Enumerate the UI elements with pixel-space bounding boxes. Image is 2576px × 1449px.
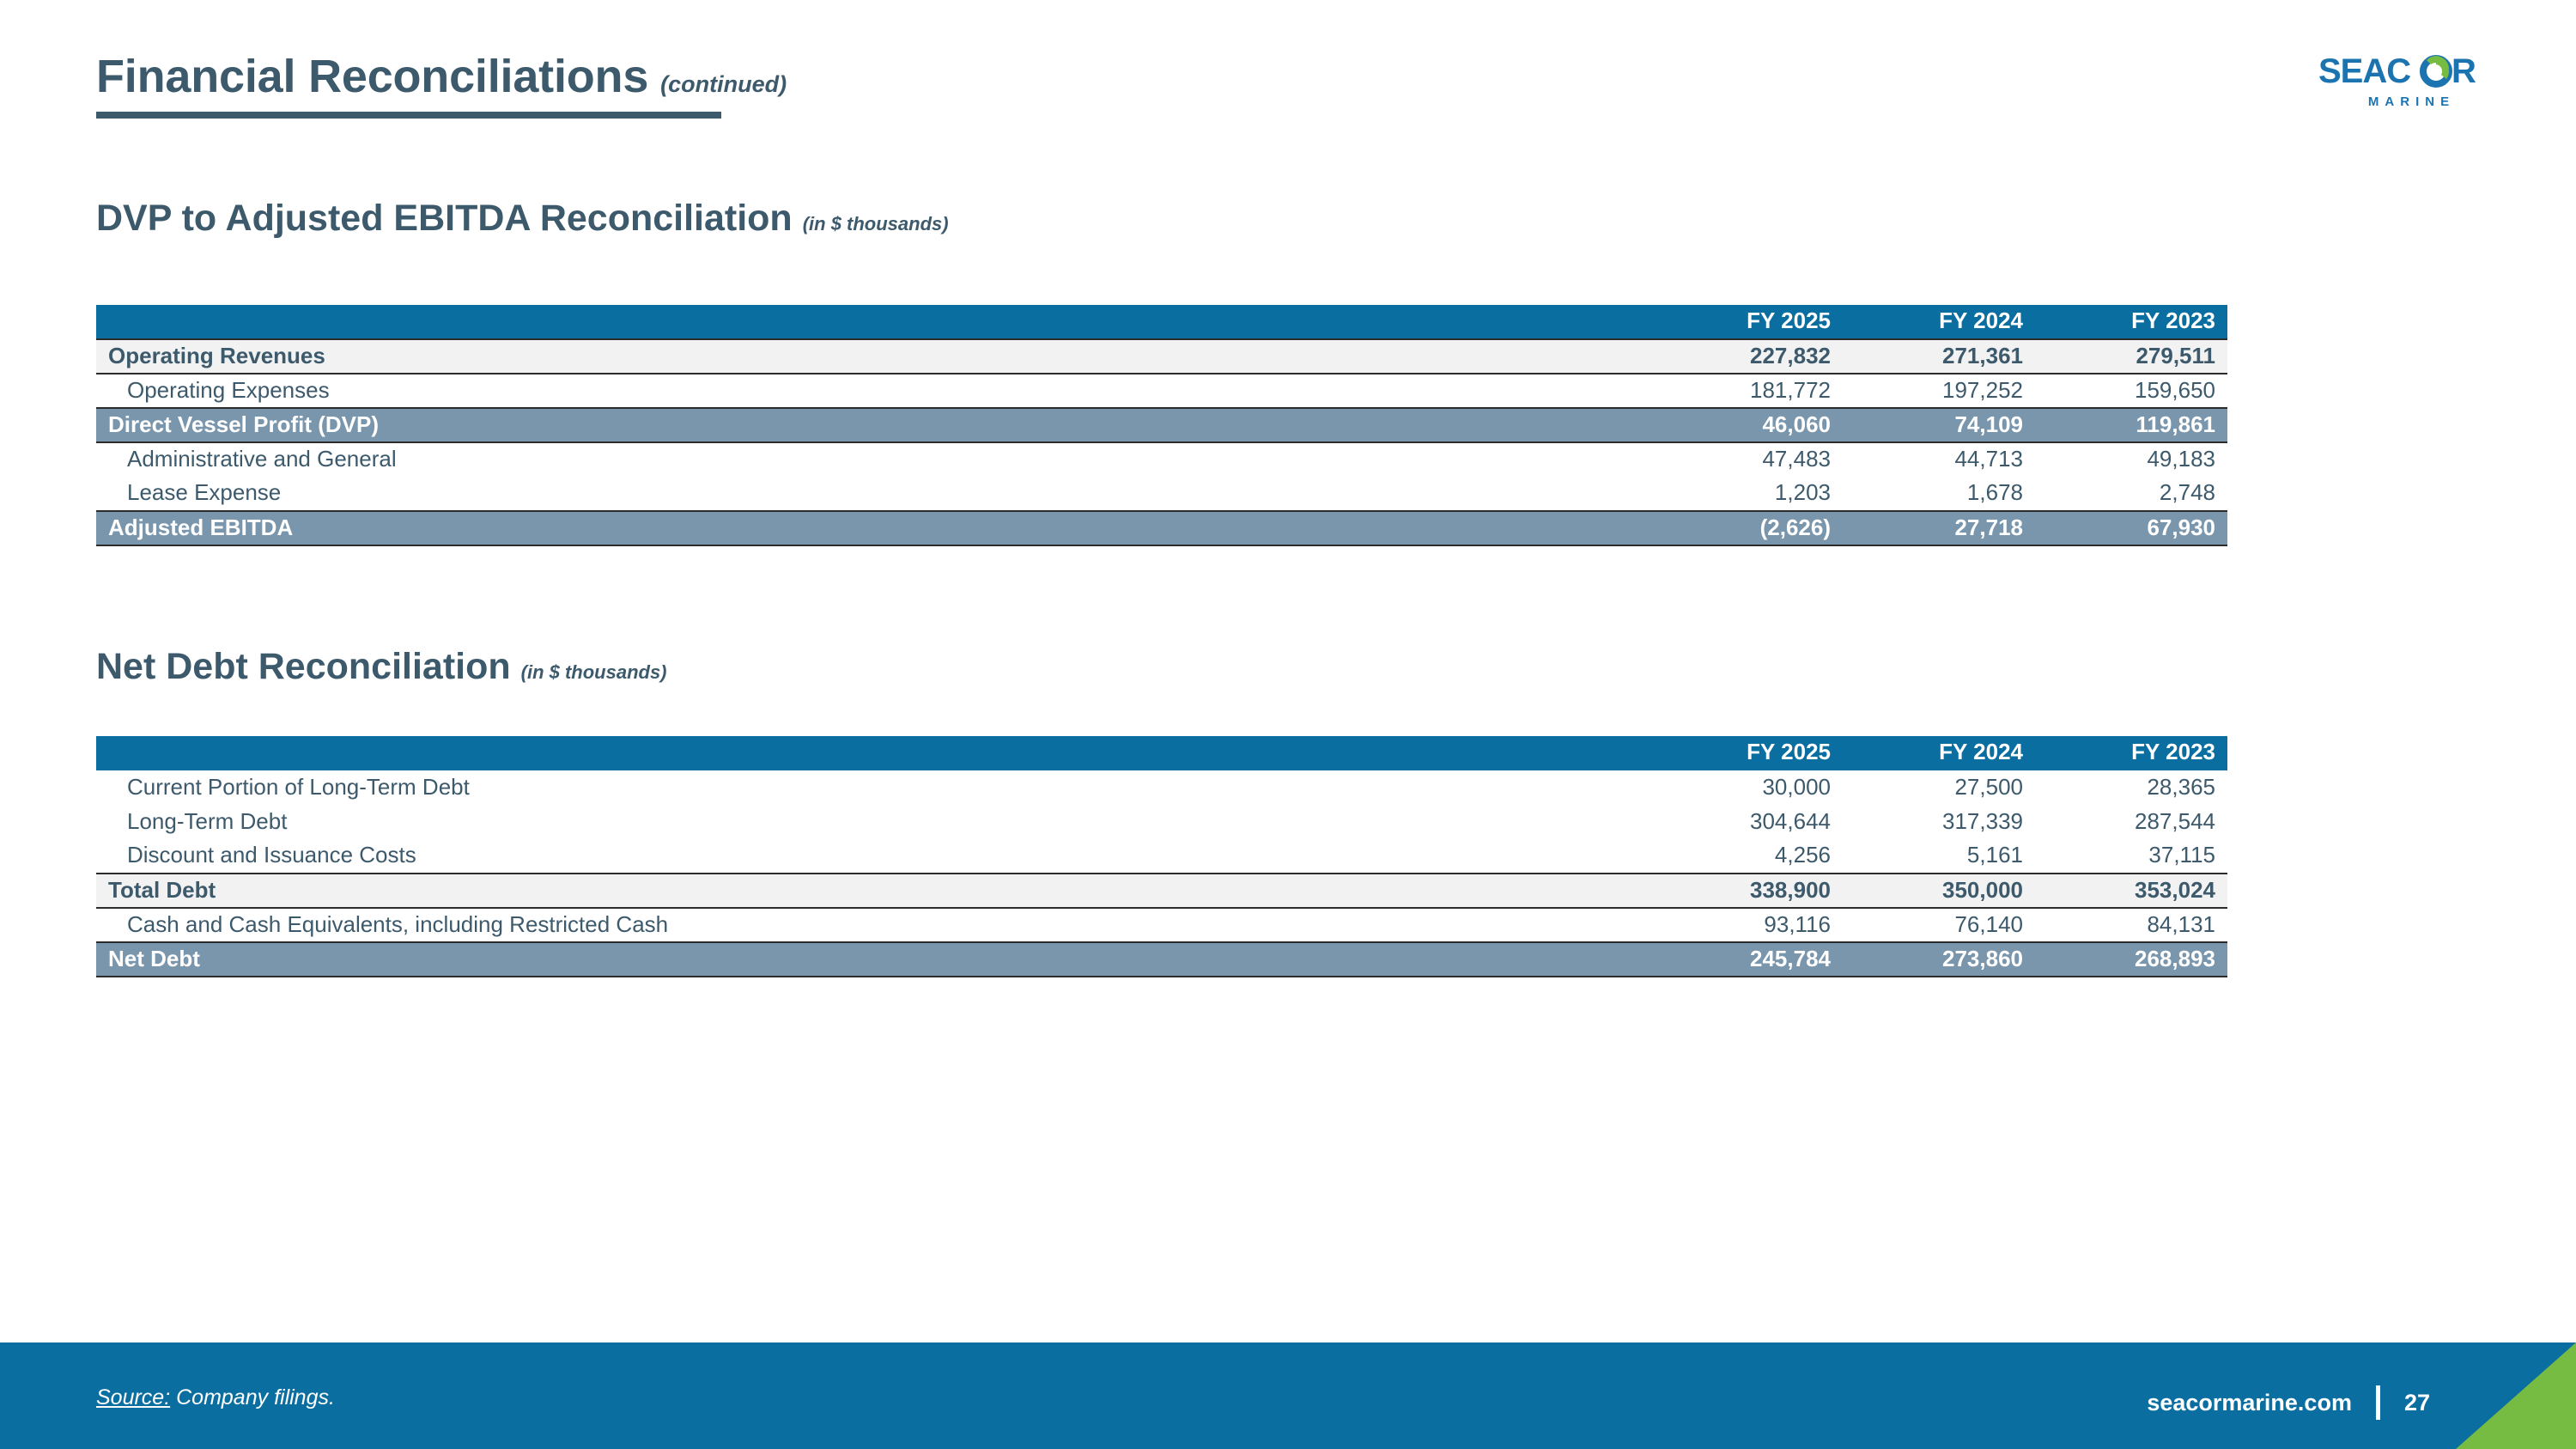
row-label: Adjusted EBITDA (96, 511, 1650, 545)
row-value-fy2025: 46,060 (1650, 408, 1843, 442)
row-label: Operating Revenues (96, 339, 1650, 374)
row-value-fy2025: 93,116 (1650, 908, 1843, 942)
row-label: Operating Expenses (96, 374, 1650, 408)
row-value-fy2024: 27,718 (1843, 511, 2035, 545)
row-value-fy2025: 338,900 (1650, 874, 1843, 908)
row-value-fy2023: 353,024 (2035, 874, 2227, 908)
row-value-fy2025: 227,832 (1650, 339, 1843, 374)
svg-text:R: R (2451, 53, 2476, 90)
logo-subtitle: MARINE (2318, 94, 2499, 109)
table-row: Net Debt 245,784 273,860 268,893 (96, 942, 2227, 977)
row-value-fy2024: 44,713 (1843, 442, 2035, 477)
row-label: Lease Expense (96, 477, 1650, 511)
section-title-net-debt: Net Debt Reconciliation (in $ thousands) (96, 646, 667, 688)
footer-divider (2376, 1385, 2380, 1420)
slide-footer: Source: Company filings. seacormarine.co… (0, 1342, 2576, 1449)
row-label: Discount and Issuance Costs (96, 839, 1650, 874)
row-value-fy2023: 84,131 (2035, 908, 2227, 942)
column-header-fy2024: FY 2024 (1843, 736, 2035, 770)
row-value-fy2023: 49,183 (2035, 442, 2227, 477)
table-row: Direct Vessel Profit (DVP) 46,060 74,109… (96, 408, 2227, 442)
table-row: Administrative and General 47,483 44,713… (96, 442, 2227, 477)
row-label: Cash and Cash Equivalents, including Res… (96, 908, 1650, 942)
row-value-fy2025: 47,483 (1650, 442, 1843, 477)
table-header-row: FY 2025 FY 2024 FY 2023 (96, 736, 2227, 770)
footer-website-url[interactable]: seacormarine.com (2147, 1390, 2352, 1416)
row-value-fy2023: 37,115 (2035, 839, 2227, 874)
row-value-fy2024: 27,500 (1843, 770, 2035, 805)
logo-wordmark-icon: SEAC R (2318, 53, 2499, 91)
page-title-text: Financial Reconciliations (96, 50, 648, 103)
column-header-fy2024: FY 2024 (1843, 305, 2035, 339)
section-title-net-debt-text: Net Debt Reconciliation (96, 646, 511, 688)
table-row: Operating Revenues 227,832 271,361 279,5… (96, 339, 2227, 374)
row-label: Administrative and General (96, 442, 1650, 477)
footer-green-accent-triangle (2456, 1342, 2576, 1449)
row-value-fy2023: 28,365 (2035, 770, 2227, 805)
column-header-fy2023: FY 2023 (2035, 736, 2227, 770)
row-label: Net Debt (96, 942, 1650, 977)
column-header-label (96, 305, 1650, 339)
row-value-fy2024: 1,678 (1843, 477, 2035, 511)
page-number: 27 (2404, 1390, 2430, 1416)
column-header-fy2025: FY 2025 (1650, 736, 1843, 770)
table-row: Long-Term Debt 304,644 317,339 287,544 (96, 805, 2227, 839)
footer-source-label: Source: (96, 1385, 170, 1409)
row-value-fy2023: 279,511 (2035, 339, 2227, 374)
row-value-fy2024: 317,339 (1843, 805, 2035, 839)
row-value-fy2025: 304,644 (1650, 805, 1843, 839)
row-value-fy2023: 119,861 (2035, 408, 2227, 442)
row-value-fy2024: 273,860 (1843, 942, 2035, 977)
page-title: Financial Reconciliations (continued) (96, 50, 787, 103)
row-value-fy2025: 4,256 (1650, 839, 1843, 874)
footer-source-note: Source: Company filings. (96, 1385, 335, 1410)
footer-right-group: seacormarine.com 27 (2147, 1385, 2430, 1420)
title-underline-rule (96, 112, 721, 119)
table-header-row: FY 2025 FY 2024 FY 2023 (96, 305, 2227, 339)
row-label: Long-Term Debt (96, 805, 1650, 839)
row-value-fy2023: 2,748 (2035, 477, 2227, 511)
row-value-fy2025: 1,203 (1650, 477, 1843, 511)
row-value-fy2024: 76,140 (1843, 908, 2035, 942)
dvp-ebitda-table: FY 2025 FY 2024 FY 2023 Operating Revenu… (96, 305, 2227, 546)
row-label: Total Debt (96, 874, 1650, 908)
row-value-fy2024: 271,361 (1843, 339, 2035, 374)
section-title-dvp-text: DVP to Adjusted EBITDA Reconciliation (96, 198, 793, 240)
footer-source-text: Company filings. (176, 1385, 335, 1409)
table-row: Current Portion of Long-Term Debt 30,000… (96, 770, 2227, 805)
row-value-fy2024: 350,000 (1843, 874, 2035, 908)
table-row: Cash and Cash Equivalents, including Res… (96, 908, 2227, 942)
row-value-fy2023: 67,930 (2035, 511, 2227, 545)
column-header-label (96, 736, 1650, 770)
section-title-dvp: DVP to Adjusted EBITDA Reconciliation (i… (96, 198, 949, 240)
svg-text:SEAC: SEAC (2318, 53, 2410, 90)
table-row: Adjusted EBITDA (2,626) 27,718 67,930 (96, 511, 2227, 545)
seacor-marine-logo: SEAC R MARINE (2318, 53, 2499, 109)
row-value-fy2025: 181,772 (1650, 374, 1843, 408)
page-title-suffix: (continued) (660, 71, 787, 98)
table-row: Total Debt 338,900 350,000 353,024 (96, 874, 2227, 908)
row-value-fy2024: 197,252 (1843, 374, 2035, 408)
net-debt-table: FY 2025 FY 2024 FY 2023 Current Portion … (96, 736, 2227, 977)
row-value-fy2025: (2,626) (1650, 511, 1843, 545)
table-row: Discount and Issuance Costs 4,256 5,161 … (96, 839, 2227, 874)
row-value-fy2023: 268,893 (2035, 942, 2227, 977)
row-value-fy2023: 287,544 (2035, 805, 2227, 839)
row-value-fy2024: 5,161 (1843, 839, 2035, 874)
row-label: Direct Vessel Profit (DVP) (96, 408, 1650, 442)
column-header-fy2025: FY 2025 (1650, 305, 1843, 339)
table-row: Operating Expenses 181,772 197,252 159,6… (96, 374, 2227, 408)
slide: Financial Reconciliations (continued) SE… (0, 0, 2576, 1449)
row-label: Current Portion of Long-Term Debt (96, 770, 1650, 805)
section-title-net-debt-units: (in $ thousands) (521, 661, 667, 684)
section-title-dvp-units: (in $ thousands) (803, 213, 949, 235)
table-row: Lease Expense 1,203 1,678 2,748 (96, 477, 2227, 511)
row-value-fy2025: 245,784 (1650, 942, 1843, 977)
column-header-fy2023: FY 2023 (2035, 305, 2227, 339)
row-value-fy2023: 159,650 (2035, 374, 2227, 408)
row-value-fy2024: 74,109 (1843, 408, 2035, 442)
row-value-fy2025: 30,000 (1650, 770, 1843, 805)
